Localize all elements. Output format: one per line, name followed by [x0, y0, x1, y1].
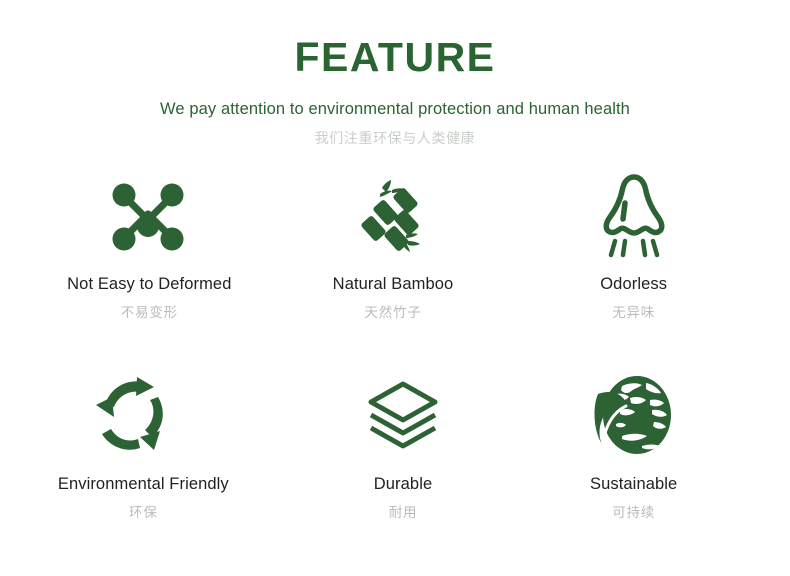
- feature-label-chinese: 可持续: [612, 505, 655, 521]
- feature-section: FEATURE We pay attention to environmenta…: [0, 0, 790, 576]
- feature-label-english: Natural Bamboo: [333, 275, 454, 295]
- subtitle-chinese: 我们注重环保与人类健康: [0, 130, 790, 147]
- feature-label-english: Sustainable: [590, 475, 677, 495]
- page-title: FEATURE: [0, 36, 790, 79]
- feature-label-english: Durable: [374, 475, 432, 495]
- bamboo-icon: [358, 171, 428, 263]
- globe-leaf-icon: [592, 367, 676, 463]
- feature-label-chinese: 天然竹子: [364, 305, 421, 321]
- subtitle-english: We pay attention to environmental protec…: [0, 100, 790, 120]
- feature-item-natural-bamboo: Natural Bamboo 天然竹子: [277, 171, 514, 367]
- feature-item-not-easy-to-deformed: Not Easy to Deformed 不易变形: [40, 171, 277, 367]
- feature-label-chinese: 不易变形: [121, 305, 178, 321]
- feature-item-odorless: Odorless 无异味: [513, 171, 750, 367]
- feature-item-sustainable: Sustainable 可持续: [513, 367, 750, 563]
- recycle-icon: [92, 367, 174, 463]
- feature-label-english: Not Easy to Deformed: [67, 275, 231, 295]
- feature-item-environmental-friendly: Environmental Friendly 环保: [40, 367, 277, 563]
- feature-label-chinese: 环保: [129, 505, 158, 521]
- feature-label-english: Environmental Friendly: [58, 475, 229, 495]
- feature-label-chinese: 无异味: [612, 305, 655, 321]
- section-header: FEATURE We pay attention to environmenta…: [0, 0, 790, 147]
- feature-item-durable: Durable 耐用: [277, 367, 514, 563]
- feature-label-english: Odorless: [600, 275, 667, 295]
- nose-icon: [598, 171, 670, 263]
- feature-grid: Not Easy to Deformed 不易变形: [0, 171, 790, 563]
- molecule-icon: [110, 171, 186, 263]
- feature-label-chinese: 耐用: [389, 505, 418, 521]
- layers-icon: [365, 367, 441, 463]
